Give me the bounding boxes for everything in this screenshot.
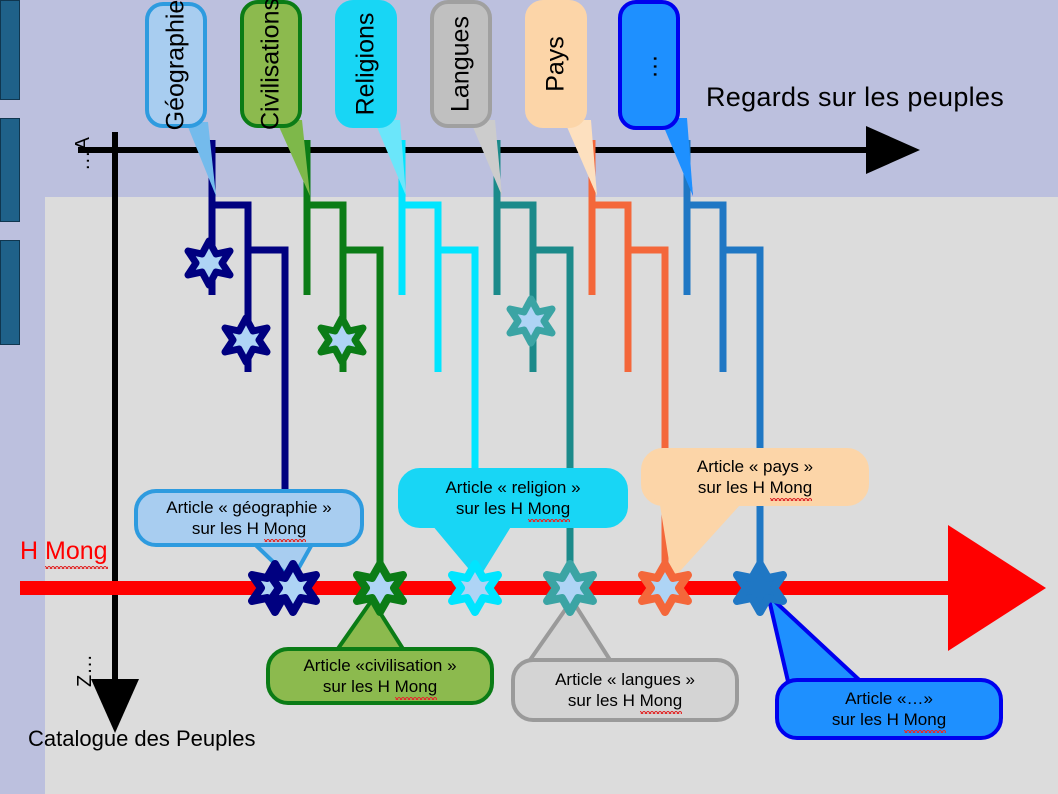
category-label-religions: Religions <box>352 13 381 116</box>
article-callout-religion[interactable]: Article « religion » sur les H Mong <box>398 468 628 528</box>
article-autres-line2: sur les H Mong <box>832 709 946 730</box>
article-langues-line1: Article « langues » <box>555 669 695 690</box>
article-callout-civilisation[interactable]: Article «civilisation » sur les H Mong <box>266 647 494 705</box>
side-tab-2[interactable] <box>0 118 20 222</box>
article-civilisation-line2: sur les H Mong <box>323 676 437 697</box>
side-tab-1[interactable] <box>0 0 20 100</box>
tail-religions-top <box>366 120 406 196</box>
article-geographie-line2: sur les H Mong <box>192 518 306 539</box>
row-label-h-mong: H Mong <box>20 537 108 566</box>
tail-pays-top <box>556 120 597 196</box>
page-title: Regards sur les peuples <box>706 82 1004 113</box>
category-label-civilisations: Civilisations <box>257 0 286 130</box>
tail-geographie-top <box>178 122 216 196</box>
slide-canvas: Géographie Civilisations Religions Langu… <box>0 0 1058 794</box>
category-label-pays: Pays <box>542 36 571 92</box>
article-callout-langues[interactable]: Article « langues » sur les H Mong <box>511 658 739 722</box>
article-autres-line1: Article «…» <box>845 688 933 709</box>
article-religion-line1: Article « religion » <box>445 477 580 498</box>
category-label-autres: … <box>635 51 664 79</box>
article-religion-line2: sur les H Mong <box>456 498 570 519</box>
category-bubble-religions[interactable]: Religions <box>335 0 397 128</box>
category-label-langues: Langues <box>447 16 476 112</box>
article-callout-geographie[interactable]: Article « géographie » sur les H Mong <box>134 489 364 547</box>
category-bubble-geographie[interactable]: Géographie <box>145 2 207 128</box>
article-langues-line2: sur les H Mong <box>568 690 682 711</box>
axis-label-top: ...A <box>72 136 95 170</box>
category-bubble-pays[interactable]: Pays <box>525 0 587 128</box>
category-label-geographie: Géographie <box>162 0 191 130</box>
category-bubble-langues[interactable]: Langues <box>430 0 492 128</box>
article-pays-line2: sur les H Mong <box>698 477 812 498</box>
footer-label: Catalogue des Peuples <box>28 726 256 752</box>
side-tab-3[interactable] <box>0 240 20 345</box>
article-geographie-line1: Article « géographie » <box>166 497 331 518</box>
article-pays-line1: Article « pays » <box>697 456 813 477</box>
tail-langues-top <box>462 120 502 196</box>
category-bubble-autres[interactable]: … <box>618 0 680 130</box>
axis-label-bottom: Z... <box>74 654 97 687</box>
article-callout-pays[interactable]: Article « pays » sur les H Mong <box>641 448 869 506</box>
tail-civilisations-top <box>268 120 310 196</box>
category-bubble-civilisations[interactable]: Civilisations <box>240 0 302 128</box>
article-callout-autres[interactable]: Article «…» sur les H Mong <box>775 678 1003 740</box>
article-civilisation-line1: Article «civilisation » <box>303 655 456 676</box>
